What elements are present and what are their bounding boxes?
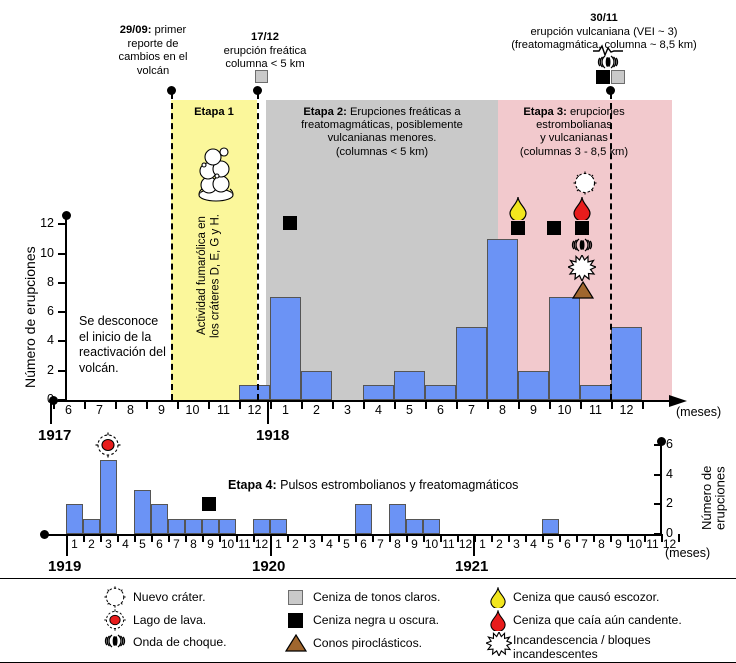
x-tick-label-1920-7: 7 xyxy=(372,537,389,551)
x-tick-label-1920-4: 4 xyxy=(321,537,338,551)
x-tick-label-1921-11: 11 xyxy=(644,537,661,551)
x-tick-label-1919-3: 3 xyxy=(100,537,117,551)
x-tick-label-1919-7: 7 xyxy=(168,537,185,551)
x-tick-label-1919-9: 9 xyxy=(202,537,219,551)
x-tick-label-1921-9: 9 xyxy=(610,537,627,551)
legend-label-incandescence: Incandescencia / bloques xyxy=(513,633,651,647)
x-tick-label-1921-1: 1 xyxy=(474,537,491,551)
bottom-axis-ticks: 1234567891011121234567891011121234567891… xyxy=(0,0,736,580)
legend-label-dark-ash: Ceniza negra u oscura. xyxy=(313,613,439,627)
x-tick-label-1919-10: 10 xyxy=(219,537,236,551)
new-crater-icon xyxy=(103,585,127,609)
y-tick-label-bottom-4: 4 xyxy=(666,467,686,481)
legend-label-stinging-ash: Ceniza que causó escozor. xyxy=(513,590,659,604)
x-tick-label-1919-6: 6 xyxy=(151,537,168,551)
x-tick-label-1921-4: 4 xyxy=(525,537,542,551)
pyroclastic-cone-icon xyxy=(285,634,307,652)
y-tick xyxy=(654,444,662,446)
x-tick-label-1919-1: 1 xyxy=(66,537,83,551)
legend-label-new-crater: Nuevo cráter. xyxy=(133,590,205,604)
legend-label-incandescence-2: incandescentes xyxy=(513,647,598,661)
x-tick-label-1919-2: 2 xyxy=(83,537,100,551)
x-tick-label-1919-4: 4 xyxy=(117,537,134,551)
stinging-ash-icon xyxy=(490,586,506,608)
x-tick-label-1920-3: 3 xyxy=(304,537,321,551)
y-tick xyxy=(654,533,662,535)
x-tick-label-1920-5: 5 xyxy=(338,537,355,551)
light-ash-icon xyxy=(288,590,303,605)
x-tick-label-1920-11: 11 xyxy=(440,537,457,551)
x-tick-label-1921-6: 6 xyxy=(559,537,576,551)
legend-label-light-ash: Ceniza de tonos claros. xyxy=(313,590,440,604)
shock-wave-icon xyxy=(102,633,128,649)
x-tick-label-1921-5: 5 xyxy=(542,537,559,551)
glowing-ash-icon xyxy=(490,609,506,631)
y-tick-label-bottom-6: 6 xyxy=(666,437,686,451)
x-tick-label-1920-12: 12 xyxy=(457,537,474,551)
x-tick-label-1921-8: 8 xyxy=(593,537,610,551)
incandescence-icon xyxy=(486,632,512,656)
x-tick-label-1920-2: 2 xyxy=(287,537,304,551)
x-tick-label-1921-10: 10 xyxy=(627,537,644,551)
x-tick-label-1919-5: 5 xyxy=(134,537,151,551)
legend-label-lava-lake: Lago de lava. xyxy=(133,613,206,627)
legend-label-pyroclastic-cone: Conos piroclásticos. xyxy=(313,636,422,650)
x-tick-label-1919-8: 8 xyxy=(185,537,202,551)
x-tick-label-1921-7: 7 xyxy=(576,537,593,551)
dark-ash-icon xyxy=(288,613,303,628)
legend-label-shock-wave: Onda de choque. xyxy=(133,635,227,649)
y-tick-label-bottom-0: 0 xyxy=(666,526,686,540)
y-tick-label-bottom-2: 2 xyxy=(666,496,686,510)
lava-lake-icon xyxy=(103,608,127,632)
x-tick-label-1920-6: 6 xyxy=(355,537,372,551)
y-tick xyxy=(654,474,662,476)
x-tick-label-1919-12: 12 xyxy=(253,537,270,551)
x-tick-label-1921-3: 3 xyxy=(508,537,525,551)
legend-label-glowing-ash: Ceniza que caía aún candente. xyxy=(513,613,682,627)
x-tick-label-1920-8: 8 xyxy=(389,537,406,551)
x-tick-label-1919-11: 11 xyxy=(236,537,253,551)
legend: Nuevo cráter. Lago de lava. Onda de choq… xyxy=(0,578,736,663)
y-tick xyxy=(654,503,662,505)
x-tick-label-1920-10: 10 xyxy=(423,537,440,551)
x-tick-label-1920-9: 9 xyxy=(406,537,423,551)
x-tick-label-1920-1: 1 xyxy=(270,537,287,551)
x-tick-label-1921-2: 2 xyxy=(491,537,508,551)
